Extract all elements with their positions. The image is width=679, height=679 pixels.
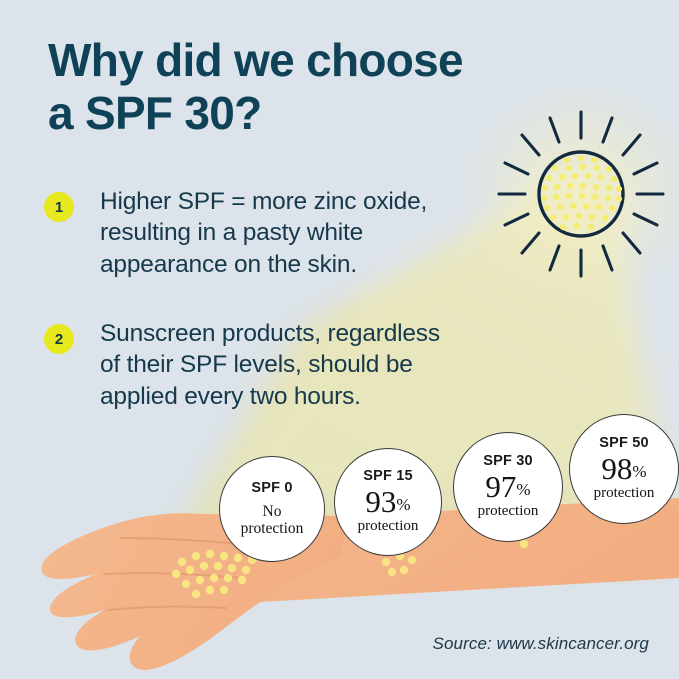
spf-label: SPF 30 bbox=[483, 454, 533, 470]
spf-label: SPF 15 bbox=[363, 469, 413, 485]
percent-symbol: % bbox=[516, 480, 530, 499]
spf-percent: 97% bbox=[485, 471, 530, 503]
page-title: Why did we choose a SPF 30? bbox=[48, 34, 608, 141]
spf-label: SPF 50 bbox=[599, 436, 649, 452]
spf-circle-50: SPF 50 98% protection bbox=[569, 414, 679, 524]
spf-circle-30: SPF 30 97% protection bbox=[453, 432, 563, 542]
list-item-number: 1 bbox=[44, 192, 74, 222]
spf-label: SPF 0 bbox=[251, 481, 292, 497]
list-item-text: Sunscreen products, regardless of their … bbox=[100, 318, 574, 412]
spf-protection: protection bbox=[478, 503, 539, 520]
reason-list: 1 Higher SPF = more zinc oxide, resultin… bbox=[44, 186, 574, 438]
spf-circle-15: SPF 15 93% protection bbox=[334, 448, 442, 556]
percent-symbol: % bbox=[632, 462, 646, 481]
list-item: 2 Sunscreen products, regardless of thei… bbox=[44, 318, 574, 412]
spf-protection: protection bbox=[594, 485, 655, 502]
list-item-text: Higher SPF = more zinc oxide, resulting … bbox=[100, 186, 574, 280]
percent-symbol: % bbox=[396, 495, 410, 514]
infographic-canvas: Why did we choose a SPF 30? 1 Higher SPF… bbox=[0, 0, 679, 679]
list-item: 1 Higher SPF = more zinc oxide, resultin… bbox=[44, 186, 574, 280]
spf-percent: 93% bbox=[365, 486, 410, 518]
spf-percent: 98% bbox=[601, 453, 646, 485]
list-item-number: 2 bbox=[44, 324, 74, 354]
spf-protection: protection bbox=[358, 518, 419, 535]
spf-protection: No protection bbox=[241, 503, 304, 538]
spf-circle-0: SPF 0 No protection bbox=[219, 456, 325, 562]
source-attribution: Source: www.skincancer.org bbox=[433, 634, 649, 654]
